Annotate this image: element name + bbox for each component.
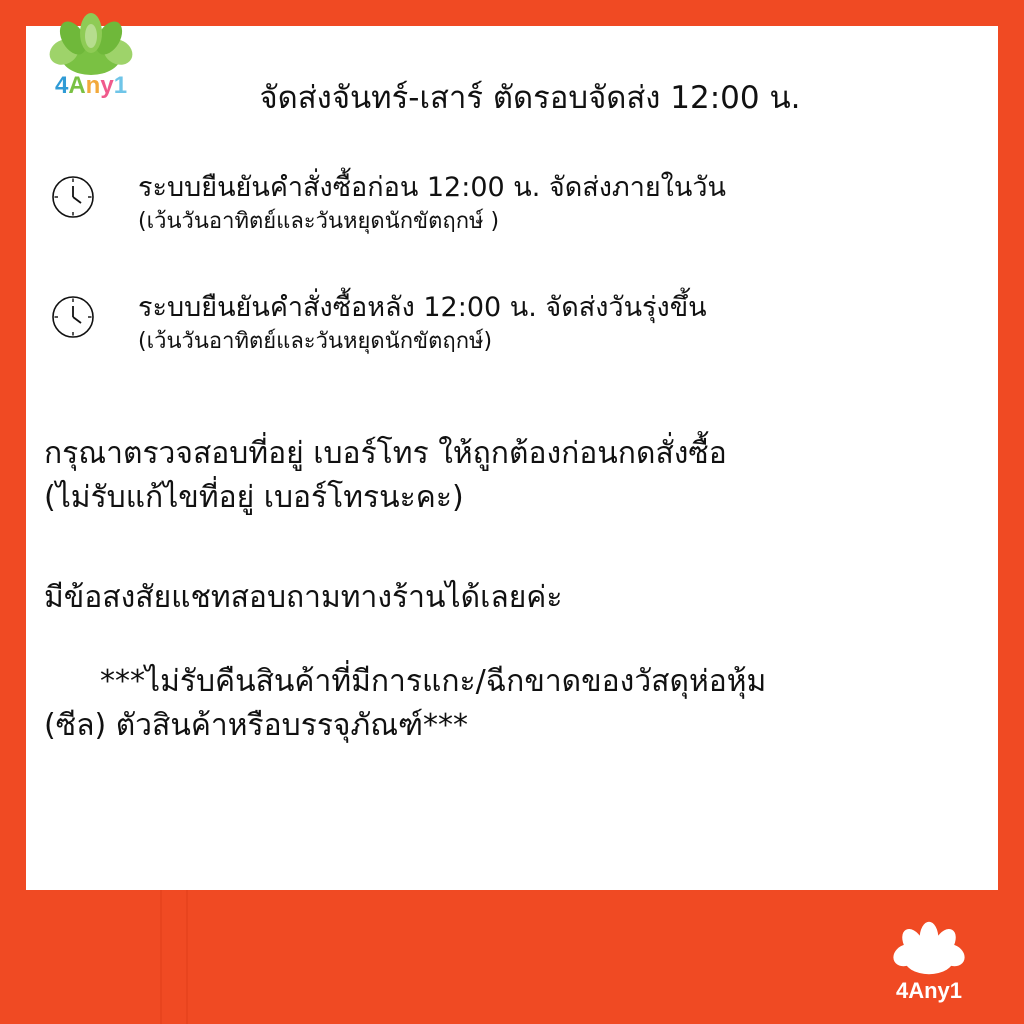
brand-char-5: 1 [114, 72, 127, 99]
brand-char-3: n [86, 72, 101, 99]
band-divider-2 [186, 890, 188, 1024]
headline-text: จัดส่งจันทร์-เสาร์ ตัดรอบจัดส่ง 12:00 น. [160, 78, 900, 120]
address-check-paragraph: กรุณาตรวจสอบที่อยู่ เบอร์โทร ให้ถูกต้องก… [44, 432, 964, 521]
no-return-paragraph: ***ไม่รับคืนสินค้าที่มีการแกะ/ฉีกขาดของว… [44, 660, 974, 749]
brand-footer: 4Any1 [864, 920, 994, 1004]
shipping-rule-1-main: ระบบยืนยันคำสั่งซื้อก่อน 12:00 น. จัดส่ง… [138, 170, 938, 205]
brand-logo-text: 4Any1 [26, 74, 156, 98]
no-return-line-2: (ซีล) ตัวสินค้าหรือบรรจุภัณฑ์*** [44, 704, 974, 748]
brand-char-1: 4 [55, 72, 68, 99]
address-check-line-1: กรุณาตรวจสอบที่อยู่ เบอร์โทร ให้ถูกต้องก… [44, 432, 964, 476]
shipping-rule-row-2: ระบบยืนยันคำสั่งซื้อหลัง 12:00 น. จัดส่ง… [38, 290, 938, 357]
shipping-rule-1-sub: (เว้นวันอาทิตย์และวันหยุดนักขัตฤกษ์ ) [138, 207, 938, 237]
no-return-line-1-text: ***ไม่รับคืนสินค้าที่มีการแกะ/ฉีกขาดของว… [100, 664, 766, 699]
shipping-rule-2-main: ระบบยืนยันคำสั่งซื้อหลัง 12:00 น. จัดส่ง… [138, 290, 938, 325]
address-check-line-2: (ไม่รับแก้ไขที่อยู่ เบอร์โทรนะคะ) [44, 476, 964, 520]
brand-char-2: A [68, 72, 85, 99]
brand-logo: 4Any1 [26, 12, 156, 127]
no-return-line-1: ***ไม่รับคืนสินค้าที่มีการแกะ/ฉีกขาดของว… [44, 660, 974, 704]
shipping-rule-row-1: ระบบยืนยันคำสั่งซื้อก่อน 12:00 น. จัดส่ง… [38, 170, 938, 237]
contact-paragraph: มีข้อสงสัยแชทสอบถามทางร้านได้เลยค่ะ [44, 576, 964, 620]
brand-footer-text: 4Any1 [864, 978, 994, 1004]
promo-banner: 4Any1 จัดส่งจันทร์-เสาร์ ตัดรอบจัดส่ง 12… [0, 0, 1024, 1024]
band-divider-1 [160, 890, 162, 1024]
clock-icon [50, 174, 96, 225]
clock-icon [50, 294, 96, 345]
brand-char-4: y [100, 72, 113, 99]
lotus-flower-icon [864, 920, 994, 982]
shipping-rule-2-sub: (เว้นวันอาทิตย์และวันหยุดนักขัตฤกษ์) [138, 327, 938, 357]
